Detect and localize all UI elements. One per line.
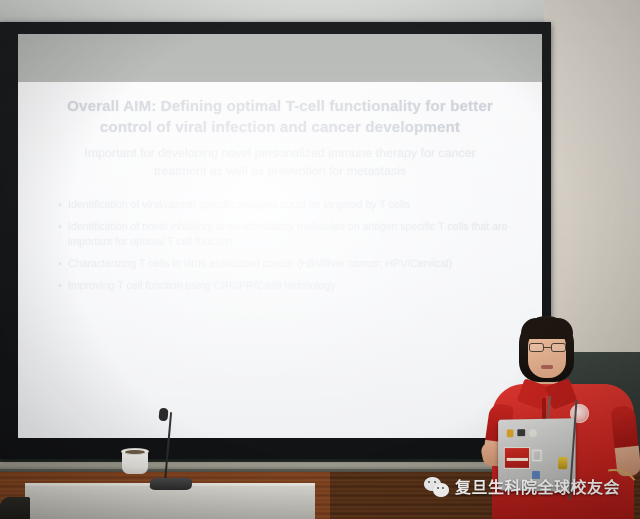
apple-icon:  <box>530 449 544 465</box>
bullet-marker-icon: • <box>58 257 68 272</box>
microphone-head-icon <box>158 408 168 422</box>
glasses-icon <box>529 343 566 352</box>
right-wall <box>544 0 640 358</box>
glasses-bridge <box>544 347 551 348</box>
slide-title: Overall AIM: Defining optimal T-cell fun… <box>46 96 514 138</box>
white-round-sticker-icon <box>529 429 537 437</box>
macbook-laptop:  <box>498 418 575 492</box>
projection-screen-surface: Overall AIM: Defining optimal T-cell fun… <box>18 34 542 438</box>
presenter-fringe <box>521 318 573 339</box>
bullet-text: Characterizing T cells in virus associat… <box>68 257 516 272</box>
bullet-marker-icon: • <box>58 198 68 213</box>
bullet-marker-icon: • <box>58 279 68 294</box>
presentation-slide: Overall AIM: Defining optimal T-cell fun… <box>18 82 542 438</box>
slide-subtitle: Important for developing novel personali… <box>58 144 502 180</box>
yellow-sticker-icon <box>507 429 514 437</box>
list-item: • Characterizing T cells in virus associ… <box>58 257 516 272</box>
bullet-text: Improving T cell function using CRISPR/C… <box>68 279 516 294</box>
paper-cup-liquid <box>125 450 145 454</box>
yellow-tag-icon <box>558 457 567 469</box>
podium-side-panel <box>0 497 30 519</box>
slide-bullet-list: • Identification of viral/cancer specifi… <box>58 198 516 294</box>
lecture-podium <box>25 485 315 519</box>
projection-screen-frame: Overall AIM: Defining optimal T-cell fun… <box>0 22 551 459</box>
red-sticker-icon <box>504 447 530 469</box>
bullet-text: Identification of viral/cancer specific … <box>68 198 516 213</box>
list-item: • Identification of viral/cancer specifi… <box>58 198 516 213</box>
blue-sticker-icon <box>532 471 540 479</box>
microphone-base <box>149 478 192 490</box>
list-item: • Identification of novel inhibitory or … <box>58 220 516 250</box>
glasses-lens-left <box>529 343 544 352</box>
dark-sticker-icon <box>517 429 525 436</box>
list-item: • Improving T cell function using CRISPR… <box>58 279 516 294</box>
bullet-marker-icon: • <box>58 220 68 235</box>
glasses-lens-right <box>551 343 566 352</box>
bullet-text: Identification of novel inhibitory or co… <box>68 220 516 250</box>
lecture-hall-photo: Overall AIM: Defining optimal T-cell fun… <box>0 0 640 519</box>
presenter-mouth <box>541 365 553 369</box>
